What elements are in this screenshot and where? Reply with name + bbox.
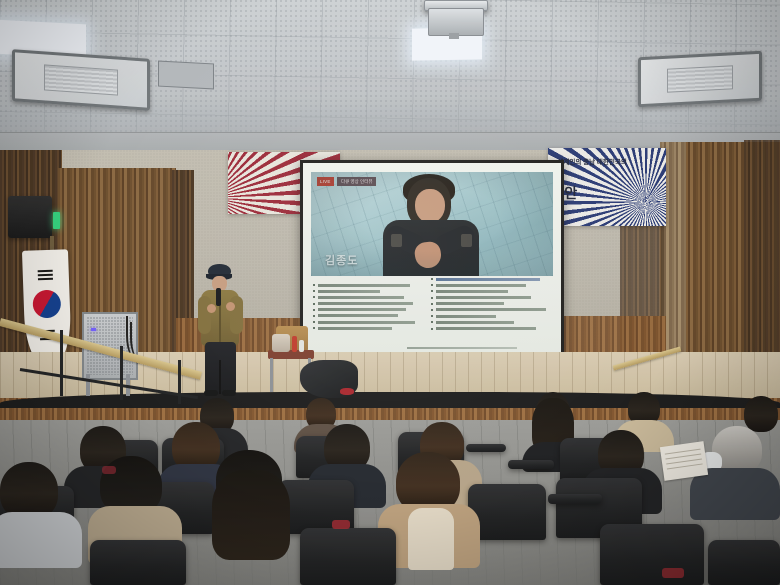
floor-bag (300, 360, 358, 398)
attendee-head (744, 396, 778, 432)
slide-right-column (431, 277, 551, 333)
banner-right-line1: 세계인의 충남 대한민국의 (557, 156, 626, 166)
trigram-top (38, 278, 53, 280)
slide-bullet (313, 326, 423, 330)
seat-cushion-accent (662, 568, 684, 578)
auditorium-chair[interactable] (600, 524, 704, 585)
emergency-exit-sign (53, 212, 60, 229)
trigram-top (38, 274, 53, 276)
attendee-long-hair-fall (212, 470, 290, 560)
slide-bullet (431, 283, 551, 287)
slide-bullet (431, 302, 551, 306)
projector-mount (449, 33, 459, 39)
ac-cassette-right (638, 51, 762, 107)
handrail-post (178, 360, 181, 404)
slide-left-column (313, 283, 423, 333)
auditorium-chair[interactable] (708, 540, 780, 585)
attendee-scarf (408, 508, 454, 570)
water-bottle (292, 336, 297, 352)
handrail-post (120, 346, 123, 400)
stage-edge (0, 392, 780, 408)
trigram-top (38, 270, 53, 272)
banner-right: 세계인의 충남 대한민국의 천안 (548, 148, 666, 226)
paper-line (666, 463, 703, 469)
slide-bullet (313, 283, 423, 287)
slide-bullet (431, 308, 551, 312)
auditorium-chair[interactable] (300, 528, 396, 585)
taeguk-circle (28, 285, 66, 323)
presenter-hand-right (226, 302, 235, 311)
attendee-shoulders (690, 468, 780, 520)
slide-bullet (313, 314, 423, 318)
slide-bullet (431, 320, 551, 324)
slide-bullet (431, 296, 551, 300)
projection-screen-frame: LIVE 다큐 영상 인터뷰 김종도 (300, 160, 564, 355)
slide-bullet (313, 308, 423, 312)
seat-cushion-accent (332, 520, 350, 529)
reading-paper (660, 441, 708, 481)
slide-bullet (313, 295, 423, 299)
slide-bullet (431, 327, 551, 331)
handrail-post (60, 330, 63, 396)
rack-leg (86, 374, 90, 396)
rack-power-led (91, 328, 96, 331)
ceiling-access-hatch (158, 61, 214, 90)
slide-bullet (431, 314, 551, 318)
presenter-leg-gap (219, 360, 221, 394)
ac-cassette-left (12, 49, 150, 111)
floor-bag-accent (340, 388, 354, 395)
attendee-shoulders (0, 512, 82, 568)
slide-footer-line (407, 347, 517, 350)
slide-bullet (313, 320, 423, 324)
slide-bullet (313, 302, 423, 306)
chair-armrest (466, 444, 506, 452)
slide-bullet (313, 289, 423, 293)
presenter-shoe-right (222, 390, 236, 396)
auditorium-chair[interactable] (90, 540, 186, 585)
belongings-bag (272, 334, 290, 352)
wall-mounted-loudspeaker (8, 196, 52, 238)
chair-armrest (548, 494, 602, 504)
side-chair-leg (270, 358, 273, 392)
auditorium-photo: 202 세계인의 충남 대한민국의 천안 (0, 0, 780, 585)
water-bottle (299, 340, 304, 352)
chair-armrest (508, 460, 554, 469)
presenter-hand-left (207, 304, 216, 313)
video-vignette (311, 172, 553, 276)
seat-cushion-accent (102, 466, 116, 474)
presentation-slide: LIVE 다큐 영상 인터뷰 김종도 (303, 163, 561, 352)
slide-bullet (431, 277, 551, 281)
slide-bullet (431, 289, 551, 293)
slide-video-region: LIVE 다큐 영상 인터뷰 김종도 (311, 172, 553, 276)
presenter-arm-left (198, 296, 211, 334)
presenter-shoe-left (204, 390, 218, 396)
projection-screen: LIVE 다큐 영상 인터뷰 김종도 (303, 163, 561, 352)
projector-body (428, 8, 484, 36)
handheld-microphone[interactable] (216, 288, 221, 306)
